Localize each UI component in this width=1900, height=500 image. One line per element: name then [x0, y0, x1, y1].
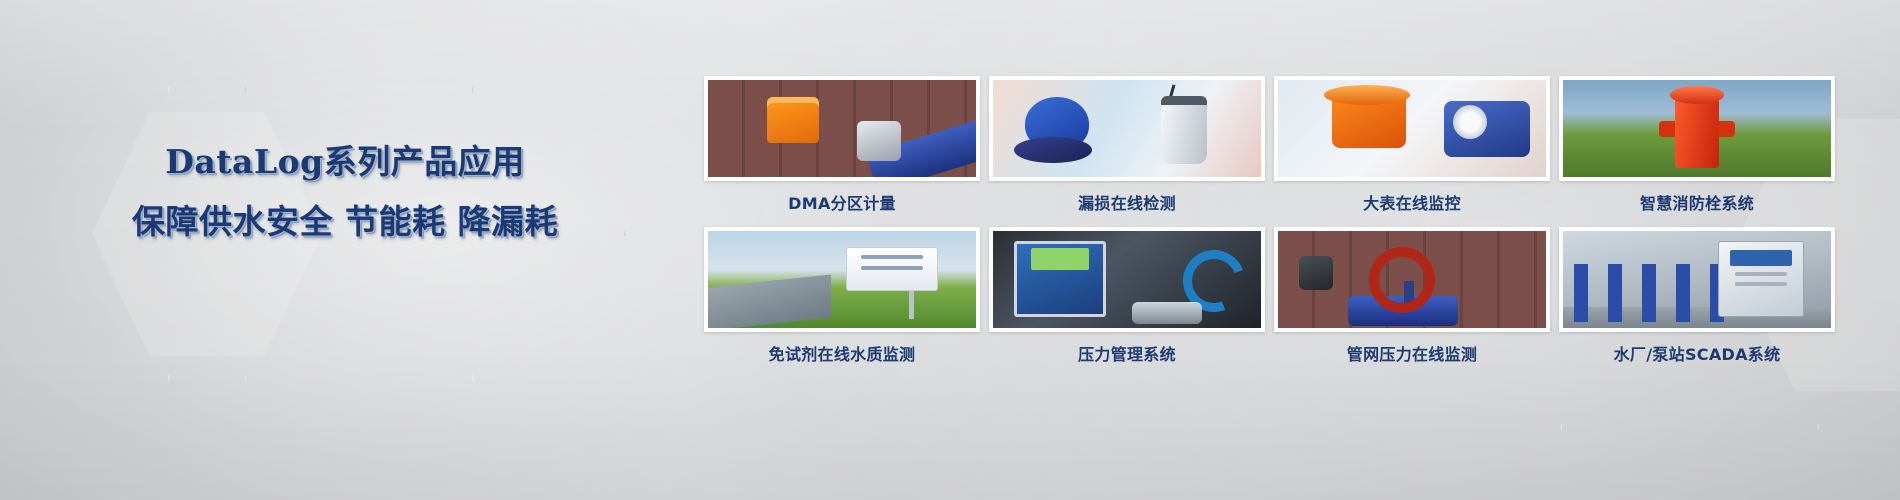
water-meter-icon	[708, 80, 976, 177]
product-card[interactable]: 智慧消防栓系统	[1559, 76, 1835, 221]
hexagon-shape	[244, 248, 474, 500]
product-application-grid: DMA分区计量 漏损在线检测 大表在线监控	[704, 76, 1844, 372]
scada-cabinet-icon	[1563, 231, 1831, 328]
headline-line-secondary: 保障供水安全 节能耗 降漏耗	[0, 202, 690, 242]
product-card[interactable]: 免试剂在线水质监测	[704, 227, 980, 372]
product-thumbnail[interactable]	[704, 227, 980, 332]
product-caption: 水厂/泵站SCADA系统	[1559, 341, 1835, 365]
product-caption: 漏损在线检测	[989, 190, 1265, 214]
product-caption: 压力管理系统	[989, 341, 1265, 365]
product-caption: 智慧消防栓系统	[1559, 190, 1835, 214]
product-caption: 大表在线监控	[1274, 190, 1550, 214]
product-caption: DMA分区计量	[704, 190, 980, 214]
product-card[interactable]: 水厂/泵站SCADA系统	[1559, 227, 1835, 372]
banner-headline: DataLog系列产品应用 保障供水安全 节能耗 降漏耗	[0, 142, 690, 242]
product-thumbnail[interactable]	[1559, 76, 1835, 181]
product-application-banner: DataLog系列产品应用 保障供水安全 节能耗 降漏耗 DMA分区计量 漏损在…	[0, 0, 1900, 500]
product-thumbnail[interactable]	[1559, 227, 1835, 332]
headline-line-primary: DataLog系列产品应用	[0, 142, 690, 182]
large-meter-icon	[1278, 80, 1546, 177]
product-thumbnail[interactable]	[704, 76, 980, 181]
pressure-cabinet-icon	[993, 231, 1261, 328]
product-caption: 管网压力在线监测	[1274, 341, 1550, 365]
product-thumbnail[interactable]	[989, 227, 1265, 332]
product-thumbnail[interactable]	[989, 76, 1265, 181]
product-card[interactable]: 压力管理系统	[989, 227, 1265, 372]
product-card[interactable]: DMA分区计量	[704, 76, 980, 221]
hexagon-shape	[0, 248, 170, 500]
product-thumbnail[interactable]	[1274, 227, 1550, 332]
product-thumbnail[interactable]	[1274, 76, 1550, 181]
product-card[interactable]: 大表在线监控	[1274, 76, 1550, 221]
water-quality-icon	[708, 231, 976, 328]
leak-logger-icon	[993, 80, 1261, 177]
product-caption: 免试剂在线水质监测	[704, 341, 980, 365]
fire-hydrant-icon	[1563, 80, 1831, 177]
product-card[interactable]: 漏损在线检测	[989, 76, 1265, 221]
pipeline-valve-icon	[1278, 231, 1546, 328]
product-card[interactable]: 管网压力在线监测	[1274, 227, 1550, 372]
